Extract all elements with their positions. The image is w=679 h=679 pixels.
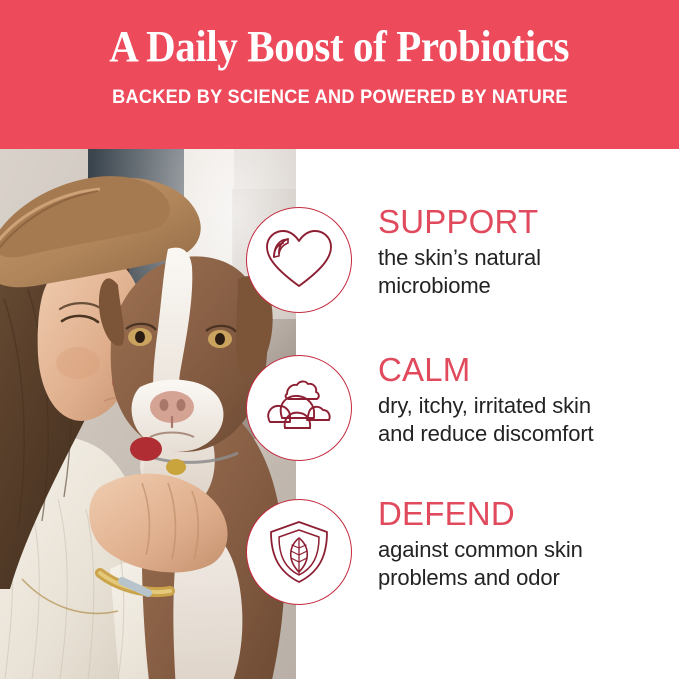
benefit-text-support: SUPPORT the skin’s natural microbiome: [378, 203, 678, 300]
benefit-body-line: and reduce discomfort: [378, 420, 678, 448]
promo-infographic: A Daily Boost of Probiotics BACKED BY SC…: [0, 0, 679, 679]
benefit-heading: DEFEND: [378, 495, 678, 533]
shield-leaf-icon-glyph: [261, 514, 337, 590]
page-title: A Daily Boost of Probiotics: [110, 22, 570, 72]
shield-leaf-icon: [246, 499, 352, 605]
benefit-body-line: microbiome: [378, 272, 678, 300]
benefit-body: the skin’s natural microbiome: [378, 244, 678, 300]
heart-icon: [246, 207, 352, 313]
benefit-body: against common skin problems and odor: [378, 536, 678, 592]
page-subtitle: BACKED BY SCIENCE AND POWERED BY NATURE: [112, 86, 568, 108]
benefits-panel: SUPPORT the skin’s natural microbiome: [296, 149, 679, 679]
benefit-text-defend: DEFEND against common skin problems and …: [378, 495, 678, 592]
benefit-body: dry, itchy, irritated skin and reduce di…: [378, 392, 678, 448]
benefit-body-line: problems and odor: [378, 564, 678, 592]
benefit-body-line: the skin’s natural: [378, 244, 678, 272]
header-banner: A Daily Boost of Probiotics BACKED BY SC…: [0, 0, 679, 149]
benefit-body-line: against common skin: [378, 536, 678, 564]
clouds-icon-glyph: [261, 370, 337, 446]
heart-icon-glyph: [261, 222, 337, 298]
benefit-heading: CALM: [378, 351, 678, 389]
clouds-icon: [246, 355, 352, 461]
benefit-body-line: dry, itchy, irritated skin: [378, 392, 678, 420]
benefit-text-calm: CALM dry, itchy, irritated skin and redu…: [378, 351, 678, 448]
benefit-heading: SUPPORT: [378, 203, 678, 241]
